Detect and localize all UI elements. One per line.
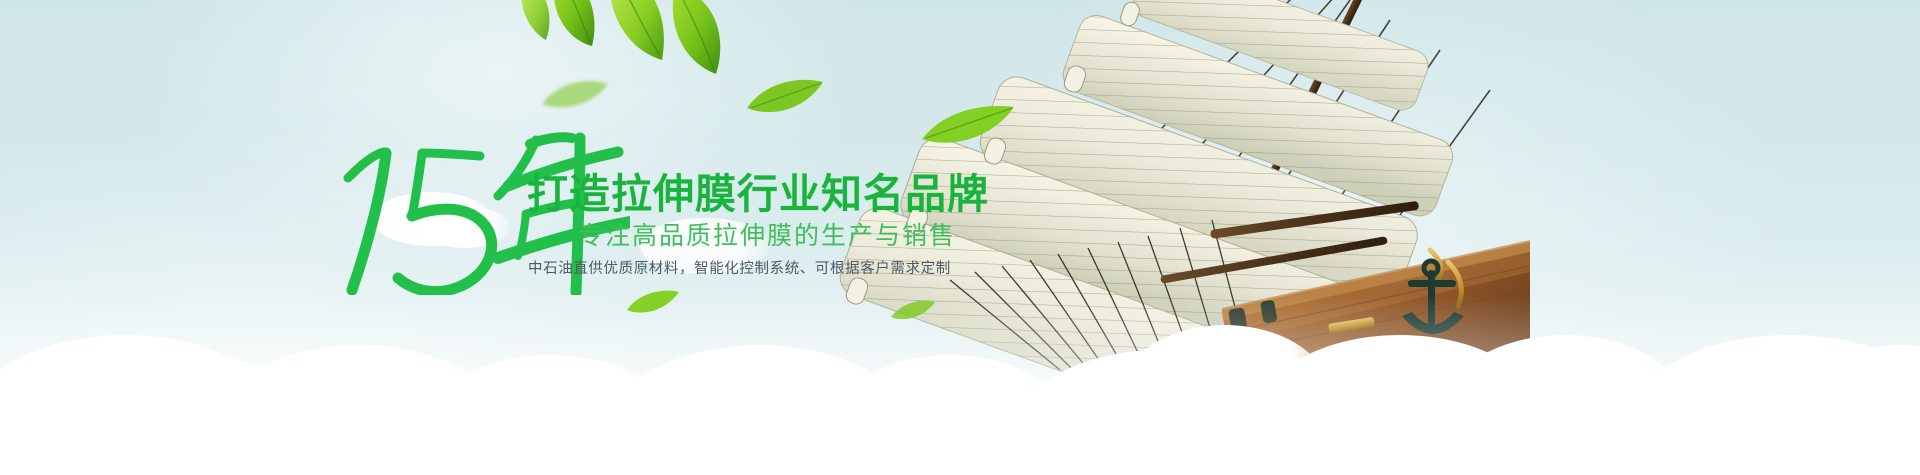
page-title: 打造拉伸膜行业知名品牌: [527, 174, 989, 215]
tagline: 中石油直供优质原材料，智能化控制系统、可根据客户需求定制: [528, 262, 951, 277]
cloud-bank: [0, 175, 1920, 475]
banner-copy: 打造拉伸膜行业知名品牌 专注高品质拉伸膜的生产与销售 中石油直供优质原材料，智能…: [330, 110, 950, 300]
leaf-icon: [470, 0, 730, 95]
subtitle: 专注高品质拉伸膜的生产与销售: [578, 224, 956, 249]
promo-banner: 打造拉伸膜行业知名品牌 专注高品质拉伸膜的生产与销售 中石油直供优质原材料，智能…: [0, 0, 1920, 475]
sky-glow: [900, 0, 1800, 460]
leaf-icon: [890, 300, 936, 327]
